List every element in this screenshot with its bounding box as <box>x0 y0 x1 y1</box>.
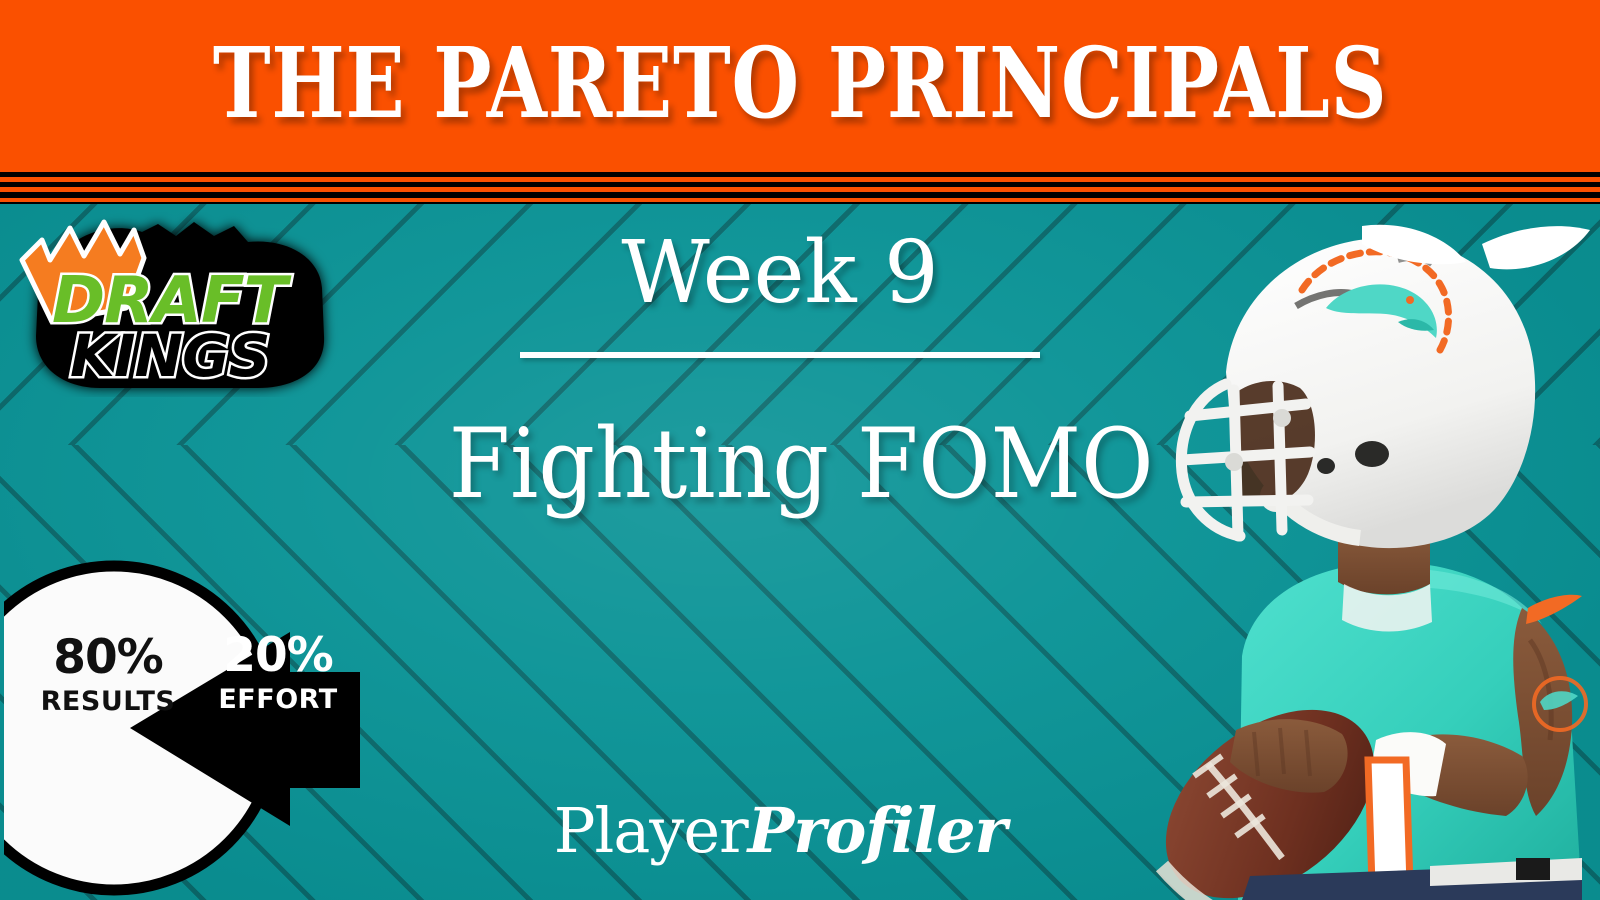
page-title: THE PARETO PRINCIPALS <box>213 35 1388 138</box>
facemask-clip <box>1273 409 1291 427</box>
pareto-chart-svg <box>4 556 384 900</box>
divider-stripe <box>0 202 1600 204</box>
crescent-left-icon <box>1362 225 1466 265</box>
header-banner: THE PARETO PRINCIPALS <box>0 0 1600 172</box>
player-illustration <box>1130 204 1600 900</box>
draftkings-word-kings: KINGS <box>70 322 269 390</box>
crescent-right-icon <box>1482 226 1590 269</box>
facemask-clip <box>1225 453 1243 471</box>
pareto-chart: 80% RESULTS 20% EFFORT <box>4 556 384 900</box>
promo-graphic: THE PARETO PRINCIPALS <box>0 0 1600 900</box>
nike-swoosh-icon <box>1526 595 1582 624</box>
belt-buckle <box>1516 858 1550 880</box>
football-player-photo <box>1130 204 1600 900</box>
stripe-divider <box>0 172 1600 204</box>
crescent-accents <box>1340 204 1600 294</box>
helmet-earhole <box>1355 441 1389 467</box>
draftkings-logo[interactable]: DRAFT KINGS <box>8 212 348 397</box>
